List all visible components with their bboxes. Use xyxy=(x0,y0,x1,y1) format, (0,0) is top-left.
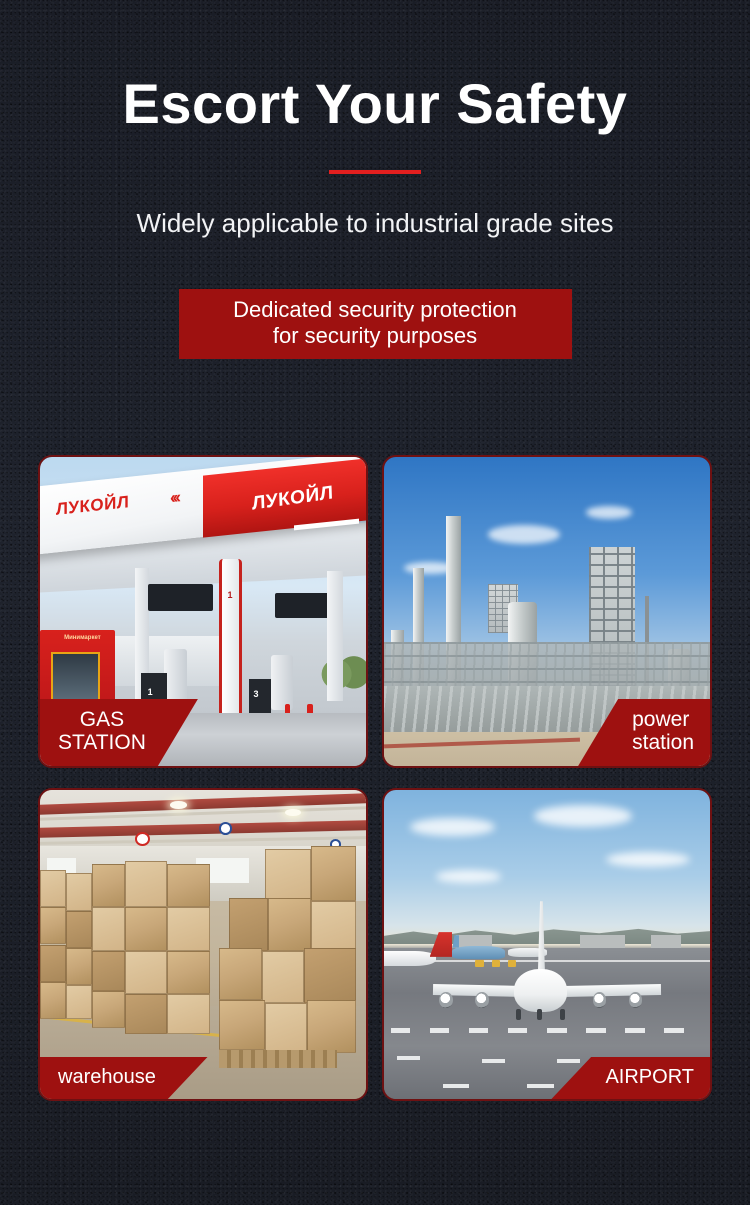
wooden-pallet xyxy=(219,1050,336,1069)
card-label-line-1: GAS xyxy=(58,708,146,732)
pump-number-1: 1 xyxy=(148,687,153,697)
box-stack-item xyxy=(66,873,92,910)
box-stack-item xyxy=(265,1003,307,1052)
box-stack-item xyxy=(262,951,304,1004)
box-stack-item xyxy=(66,911,92,948)
page-header: Escort Your Safety Widely applicable to … xyxy=(0,0,750,359)
price-display-2 xyxy=(275,593,334,618)
ceiling-lamp-2 xyxy=(285,809,301,817)
minimarket-sign-text: Минимаркет xyxy=(53,635,112,641)
card-airport[interactable]: AIRPORT xyxy=(382,788,712,1101)
runway-marking xyxy=(625,1028,645,1033)
chevron-mark-icon: ‹‹‹ xyxy=(170,487,178,508)
box-stack-item xyxy=(307,1000,356,1053)
airport-photo xyxy=(384,790,710,1099)
airport-scene xyxy=(384,790,710,1099)
box-stack-item xyxy=(92,864,125,907)
page-subtitle: Widely applicable to industrial grade si… xyxy=(0,208,750,239)
box-stack-item xyxy=(167,864,209,907)
box-stack-item xyxy=(125,994,167,1034)
cloud-3 xyxy=(606,852,691,867)
warehouse-scene xyxy=(40,790,366,1099)
runway-marking xyxy=(547,1028,567,1033)
card-label-line-2: station xyxy=(632,731,694,755)
banner-line-2: for security purposes xyxy=(201,323,550,349)
price-display-1 xyxy=(148,584,213,612)
runway-marking xyxy=(443,1084,469,1089)
aircraft-wing-right xyxy=(563,984,661,997)
pump-base-2 xyxy=(249,679,272,713)
ceiling-lamp-1 xyxy=(170,801,186,809)
box-stack-item xyxy=(125,861,167,907)
runway-marking xyxy=(391,1028,411,1033)
box-stack-item xyxy=(219,1000,265,1049)
fuel-pump-2 xyxy=(271,655,292,711)
box-stack-item xyxy=(265,849,311,902)
box-stack-item xyxy=(66,948,92,985)
box-stack-item xyxy=(40,870,66,907)
box-stack-item xyxy=(92,907,125,950)
runway-marking xyxy=(397,1056,420,1061)
card-power-station[interactable]: power station xyxy=(382,455,712,768)
box-stack-item xyxy=(92,951,125,991)
canopy-pillar-3 xyxy=(327,571,343,701)
box-stack-item xyxy=(125,951,167,994)
highlight-banner: Dedicated security protection for securi… xyxy=(179,289,572,359)
cloud-1 xyxy=(410,818,495,837)
runway-marking xyxy=(482,1059,505,1064)
minimarket-door xyxy=(51,652,100,701)
ground-vehicle-1 xyxy=(475,960,483,967)
runway-marking xyxy=(508,1028,528,1033)
runway-marking xyxy=(557,1059,580,1064)
card-gas-station[interactable]: ЛУКОЙЛ ‹‹‹ ЛУКОЙЛ Минимаркет 1 1 xyxy=(38,455,368,768)
canopy-pillar-2 xyxy=(219,559,242,720)
runway-marking xyxy=(430,1028,450,1033)
box-stack-item xyxy=(125,907,167,950)
title-underline-rule xyxy=(329,170,421,174)
runway-marking xyxy=(469,1028,489,1033)
box-stack-item xyxy=(167,994,209,1034)
banner-line-1: Dedicated security protection xyxy=(201,297,550,323)
box-stack-item xyxy=(229,898,268,951)
landing-gear-2 xyxy=(537,1009,542,1020)
warehouse-photo xyxy=(40,790,366,1099)
card-label-line-1: AIRPORT xyxy=(605,1066,694,1088)
runway-marking xyxy=(527,1084,553,1089)
terminal-building-3 xyxy=(651,935,680,947)
pump-number-2: 3 xyxy=(254,689,259,699)
card-label-line-1: warehouse xyxy=(58,1066,156,1088)
cloud-3 xyxy=(586,506,632,518)
box-stack-item xyxy=(311,846,357,902)
box-stack-item xyxy=(92,991,125,1028)
aircraft-fuselage xyxy=(514,969,566,1012)
box-stack-item xyxy=(304,948,356,1004)
application-cards-grid: ЛУКОЙЛ ‹‹‹ ЛУКОЙЛ Минимаркет 1 1 xyxy=(38,455,712,1101)
cloud-4 xyxy=(436,870,501,882)
card-label-line-1: power xyxy=(632,708,694,732)
box-stack-item xyxy=(40,907,66,944)
aircraft-tail-fin xyxy=(538,901,545,975)
no-entry-sign-icon xyxy=(135,832,150,846)
runway-marking xyxy=(586,1028,606,1033)
landing-gear-3 xyxy=(560,1009,565,1020)
parked-aircraft-blue xyxy=(452,946,504,959)
parked-aircraft-white xyxy=(384,951,436,966)
box-stack-item xyxy=(40,982,66,1019)
box-stack-item xyxy=(66,985,92,1019)
box-stack-item xyxy=(268,898,310,951)
box-stack-item xyxy=(40,945,66,982)
card-label-line-2: STATION xyxy=(58,731,146,755)
page-title: Escort Your Safety xyxy=(0,76,750,132)
box-stack-item xyxy=(167,907,209,950)
runway-marking xyxy=(664,1028,684,1033)
box-stack-item xyxy=(219,948,261,1001)
cloud-2 xyxy=(534,805,632,827)
landing-gear-1 xyxy=(516,1009,521,1020)
card-warehouse[interactable]: warehouse xyxy=(38,788,368,1101)
banner-wrapper: Dedicated security protection for securi… xyxy=(0,289,750,359)
box-stack-item xyxy=(311,901,357,954)
ground-vehicle-2 xyxy=(492,960,500,967)
terminal-building-2 xyxy=(580,935,626,947)
box-stack-item xyxy=(167,951,209,994)
cloud-1 xyxy=(488,525,560,544)
ground-vehicle-3 xyxy=(508,960,516,967)
pillar-bay-number: 1 xyxy=(227,590,232,600)
